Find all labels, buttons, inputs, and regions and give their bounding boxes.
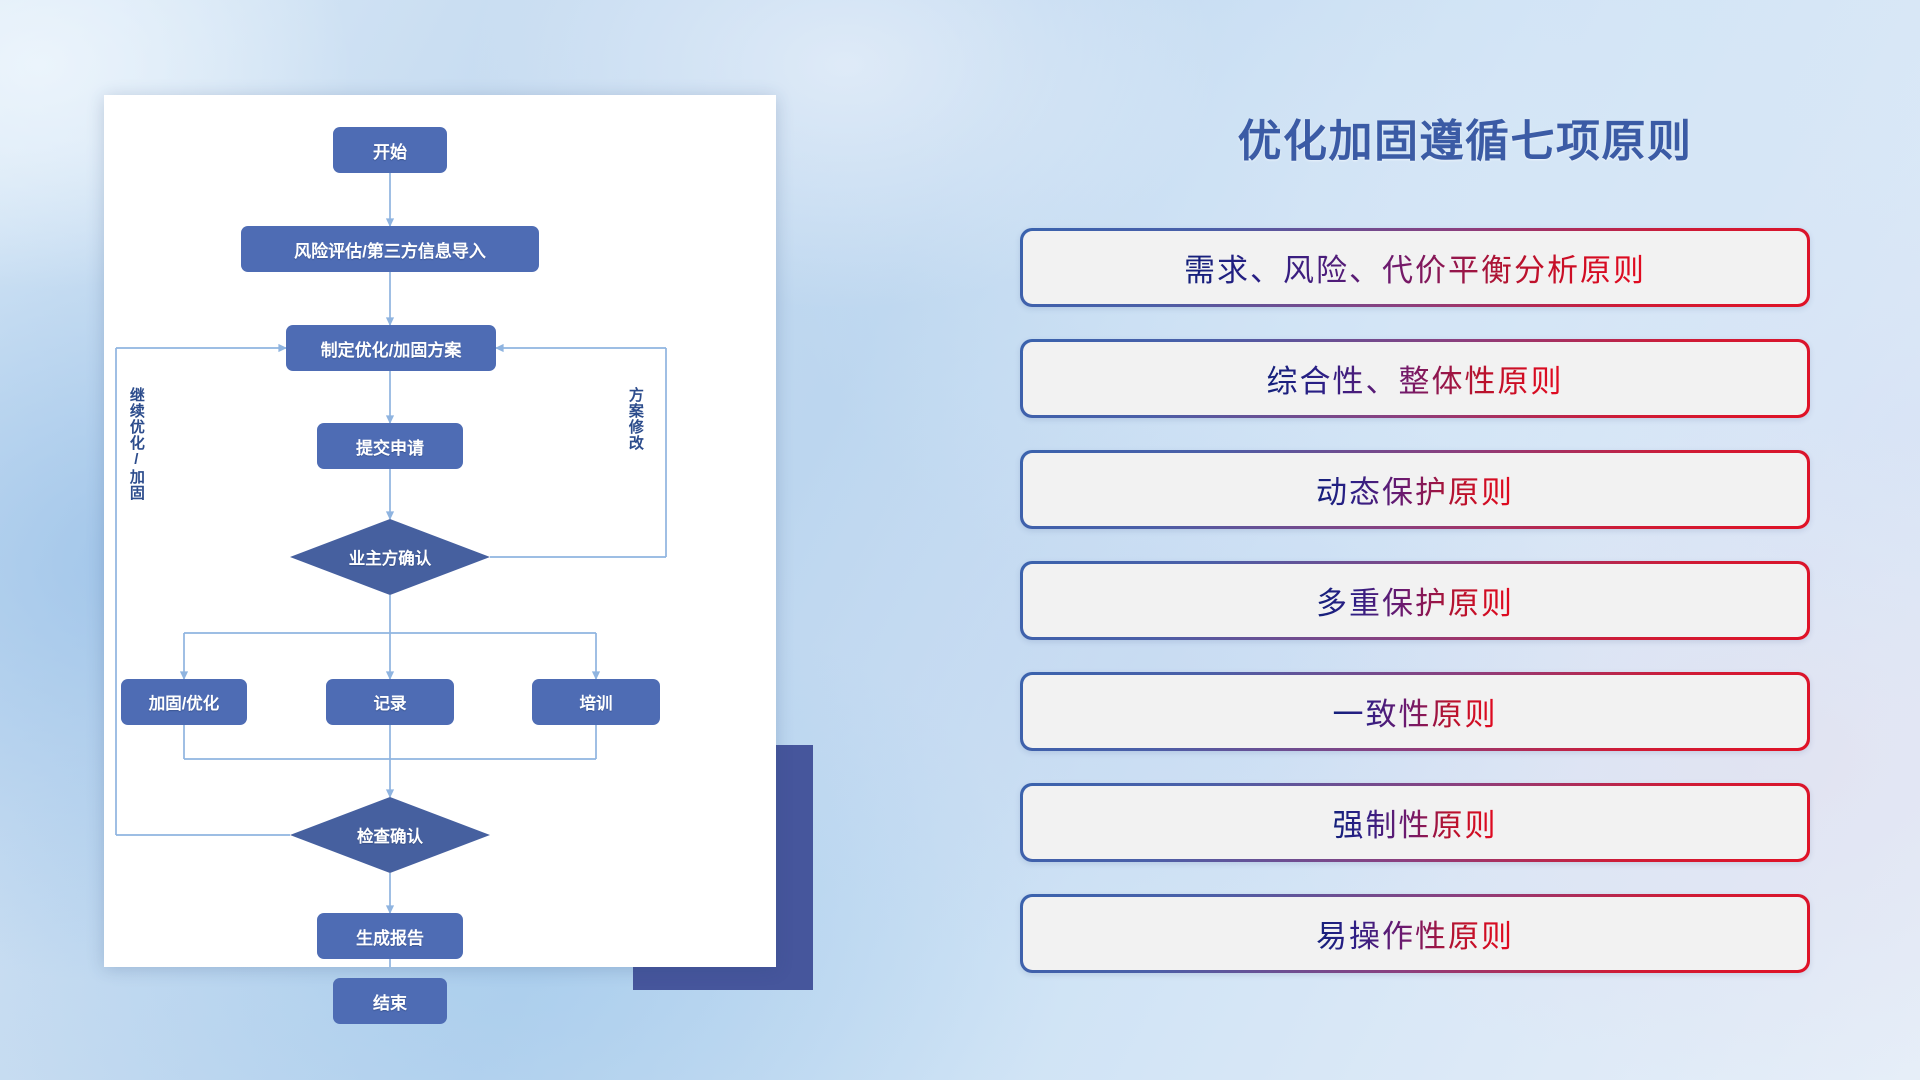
flowchart-stage: 开始 风险评估/第三方信息导入 制定优化/加固方案 提交申请 业主方确认 加固/… xyxy=(104,95,776,967)
flow-node-label: 生成报告 xyxy=(356,924,424,949)
principle-label: 强制性原则 xyxy=(1333,800,1498,845)
flow-node-generate-report[interactable]: 生成报告 xyxy=(317,913,463,959)
flowchart-canvas: 开始 风险评估/第三方信息导入 制定优化/加固方案 提交申请 业主方确认 加固/… xyxy=(104,95,776,967)
principle-card[interactable]: 一致性原则 xyxy=(1020,672,1810,751)
principle-card[interactable]: 易操作性原则 xyxy=(1020,894,1810,973)
flow-node-label: 结束 xyxy=(373,989,407,1014)
flow-node-end[interactable]: 结束 xyxy=(333,978,447,1024)
edge-label-continue-optimize: 继续优化/加固 xyxy=(128,387,144,567)
principles-list: 需求、风险、代价平衡分析原则 综合性、整体性原则 动态保护原则 多重保护原则 一… xyxy=(1020,228,1810,1005)
principle-label: 一致性原则 xyxy=(1333,689,1498,734)
principles-title: 优化加固遵循七项原则 xyxy=(1010,105,1920,169)
principle-card-inner: 多重保护原则 xyxy=(1023,564,1808,638)
flow-node-owner-confirm[interactable]: 业主方确认 xyxy=(290,519,490,595)
principle-label: 多重保护原则 xyxy=(1316,578,1514,623)
principle-card-inner: 一致性原则 xyxy=(1023,675,1808,749)
flow-node-label: 风险评估/第三方信息导入 xyxy=(294,237,486,262)
principle-card[interactable]: 多重保护原则 xyxy=(1020,561,1810,640)
flow-node-label: 加固/优化 xyxy=(149,690,220,714)
flow-node-reinforce-optimize[interactable]: 加固/优化 xyxy=(121,679,247,725)
flow-node-label: 检查确认 xyxy=(357,823,423,847)
flow-node-submit-application[interactable]: 提交申请 xyxy=(317,423,463,469)
principle-label: 需求、风险、代价平衡分析原则 xyxy=(1184,245,1646,290)
principle-card-inner: 需求、风险、代价平衡分析原则 xyxy=(1023,231,1808,305)
principle-card-inner: 强制性原则 xyxy=(1023,786,1808,860)
principle-card-inner: 综合性、整体性原则 xyxy=(1023,342,1808,416)
principle-card[interactable]: 需求、风险、代价平衡分析原则 xyxy=(1020,228,1810,307)
principle-label: 综合性、整体性原则 xyxy=(1267,356,1564,401)
flow-node-label: 培训 xyxy=(580,690,613,714)
principle-card[interactable]: 综合性、整体性原则 xyxy=(1020,339,1810,418)
flow-node-label: 开始 xyxy=(373,138,407,163)
principle-label: 动态保护原则 xyxy=(1316,467,1514,512)
flow-node-label: 提交申请 xyxy=(356,434,424,459)
principle-label: 易操作性原则 xyxy=(1316,911,1514,956)
flow-node-inspection-confirm[interactable]: 检查确认 xyxy=(290,797,490,873)
principle-card[interactable]: 动态保护原则 xyxy=(1020,450,1810,529)
principle-card[interactable]: 强制性原则 xyxy=(1020,783,1810,862)
flowchart-panel: 开始 风险评估/第三方信息导入 制定优化/加固方案 提交申请 业主方确认 加固/… xyxy=(0,0,830,1080)
principle-card-inner: 易操作性原则 xyxy=(1023,897,1808,971)
flow-node-risk-assessment[interactable]: 风险评估/第三方信息导入 xyxy=(241,226,539,272)
principle-card-inner: 动态保护原则 xyxy=(1023,453,1808,527)
flow-node-record[interactable]: 记录 xyxy=(326,679,454,725)
edge-label-plan-revision: 方案修改 xyxy=(627,387,643,527)
flow-node-label: 业主方确认 xyxy=(349,545,432,569)
flow-node-training[interactable]: 培训 xyxy=(532,679,660,725)
principles-panel: 优化加固遵循七项原则 需求、风险、代价平衡分析原则 综合性、整体性原则 动态保护… xyxy=(1010,0,1920,1080)
flow-node-plan[interactable]: 制定优化/加固方案 xyxy=(286,325,496,371)
flow-node-label: 记录 xyxy=(374,690,407,714)
flow-node-start[interactable]: 开始 xyxy=(333,127,447,173)
flow-node-label: 制定优化/加固方案 xyxy=(321,336,462,361)
